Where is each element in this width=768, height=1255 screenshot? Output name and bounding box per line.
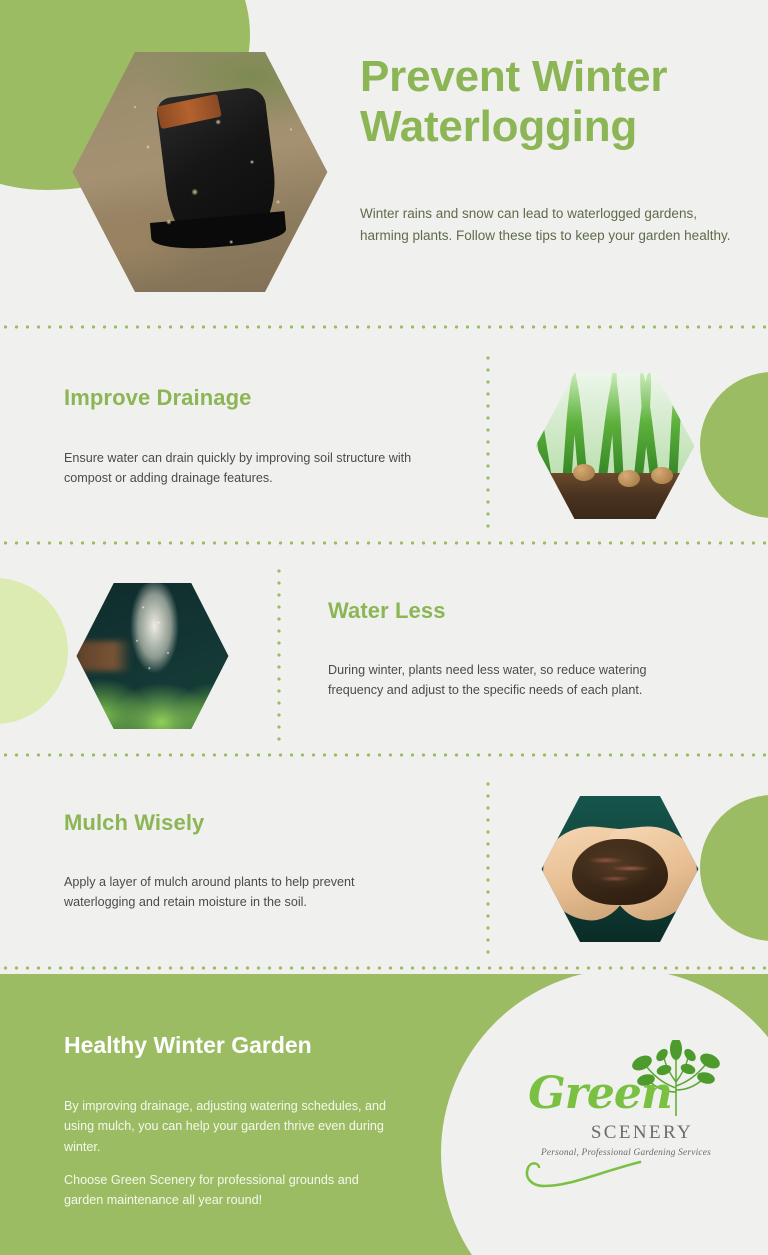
divider-hero-bottom [0, 325, 768, 329]
footer-title: Healthy Winter Garden [64, 1032, 312, 1059]
section-3-body: Apply a layer of mulch around plants to … [64, 872, 404, 913]
divider-section-1-bottom [0, 541, 768, 545]
section-2-body: During winter, plants need less water, s… [328, 660, 688, 701]
page-title: Prevent Winter Waterlogging [360, 52, 750, 151]
section-3-title: Mulch Wisely [64, 810, 204, 836]
green-scenery-logo[interactable]: Green SCENERY Personal, Professional Gar… [520, 1040, 728, 1200]
section-1-vertical-divider [486, 352, 490, 532]
footer-paragraph-2: Choose Green Scenery for professional gr… [64, 1170, 396, 1211]
section-3-vertical-divider [486, 778, 490, 958]
logo-word-green: Green [520, 1068, 680, 1119]
s1-bulb [651, 467, 673, 484]
logo-word-scenery: SCENERY [556, 1122, 728, 1144]
infographic-page: Prevent Winter Waterlogging Winter rains… [0, 0, 768, 1255]
s3-earthworms [575, 845, 665, 897]
section-2-vertical-divider [277, 565, 281, 745]
page-subtitle: Winter rains and snow can lead to waterl… [360, 203, 742, 247]
section-2-title: Water Less [328, 598, 446, 624]
logo-tagline: Personal, Professional Gardening Service… [526, 1148, 726, 1158]
divider-section-3-bottom [0, 966, 768, 970]
section-2-image-watering-plant [75, 580, 230, 732]
section-2-accent-circle [0, 578, 68, 724]
section-3-accent-circle [700, 795, 768, 941]
section-1-accent-circle [700, 372, 768, 518]
section-3-image-hands-holding-compost [540, 793, 700, 945]
s1-soil [534, 473, 696, 522]
s1-grass-blades [534, 370, 696, 486]
section-1-image-sprouting-shoots [534, 370, 696, 522]
footer-paragraph-1: By improving drainage, adjusting waterin… [64, 1096, 414, 1157]
s2-water-droplets [75, 580, 230, 732]
section-1-title: Improve Drainage [64, 385, 251, 411]
s1-bulb [573, 464, 595, 481]
section-1-body: Ensure water can drain quickly by improv… [64, 448, 449, 489]
logo-swirl-flourish [522, 1158, 652, 1194]
divider-section-2-bottom [0, 753, 768, 757]
